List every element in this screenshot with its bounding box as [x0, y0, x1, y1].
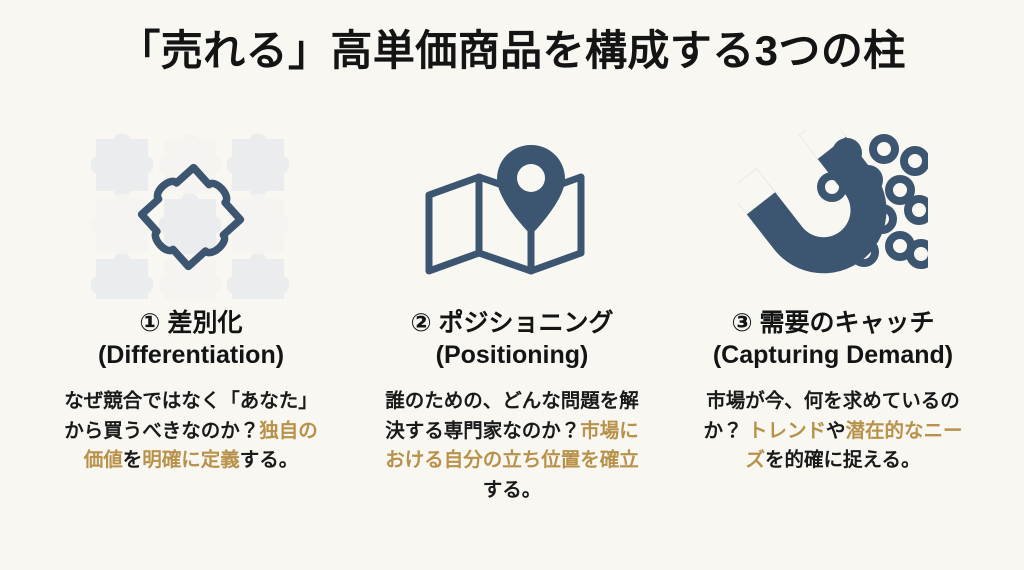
- pillar-body-1: なぜ競合ではなく「あなた」から買うべきなのか？独自の価値を明確に定義する。: [57, 387, 325, 476]
- pillar-heading-jp-2: ② ポジショニング: [410, 309, 613, 337]
- highlighted-text: 明確に定義: [142, 449, 240, 471]
- highlighted-text: トレンド: [748, 420, 826, 442]
- pillar-heading-en-1: (Differentiation): [98, 339, 284, 371]
- magnet-icon: [678, 120, 988, 305]
- pillar-body-2: 誰のための、どんな問題を解決する専門家なのか？市場における自分の立ち位置を確立す…: [378, 387, 646, 506]
- pillar-body-3: 市場が今、何を求めているのか？ トレンドや潜在的なニーズを的確に捉える。: [699, 387, 967, 476]
- pillar-heading-2: ② ポジショニング (Positioning): [410, 307, 613, 371]
- body-text: する。: [483, 479, 542, 501]
- pillar-heading-1: ① 差別化 (Differentiation): [98, 307, 284, 371]
- body-text: を: [123, 449, 143, 471]
- page-title: 「売れる」高単価商品を構成する3つの柱: [0, 26, 1024, 76]
- map-pin-icon: [357, 120, 667, 305]
- body-text: を的確に捉える。: [765, 449, 920, 471]
- pillars-row: ① 差別化 (Differentiation) なぜ競合ではなく「あなた」から買…: [0, 120, 1024, 506]
- pillar-heading-en-3: (Capturing Demand): [713, 339, 953, 371]
- pillar-card-1: ① 差別化 (Differentiation) なぜ競合ではなく「あなた」から買…: [36, 120, 346, 476]
- pillar-card-3: ③ 需要のキャッチ (Capturing Demand) 市場が今、何を求めてい…: [678, 120, 988, 476]
- pillar-heading-en-2: (Positioning): [410, 339, 613, 371]
- pillar-heading-jp-1: ① 差別化: [139, 309, 242, 337]
- pillar-heading-jp-3: ③ 需要のキャッチ: [731, 309, 934, 337]
- pillar-card-2: ② ポジショニング (Positioning) 誰のための、どんな問題を解決する…: [357, 120, 667, 506]
- body-text: や: [826, 420, 846, 442]
- slide-root: 「売れる」高単価商品を構成する3つの柱: [0, 0, 1024, 570]
- pillar-heading-3: ③ 需要のキャッチ (Capturing Demand): [713, 307, 953, 371]
- puzzle-icon: [36, 120, 346, 305]
- body-text: する。: [240, 449, 299, 471]
